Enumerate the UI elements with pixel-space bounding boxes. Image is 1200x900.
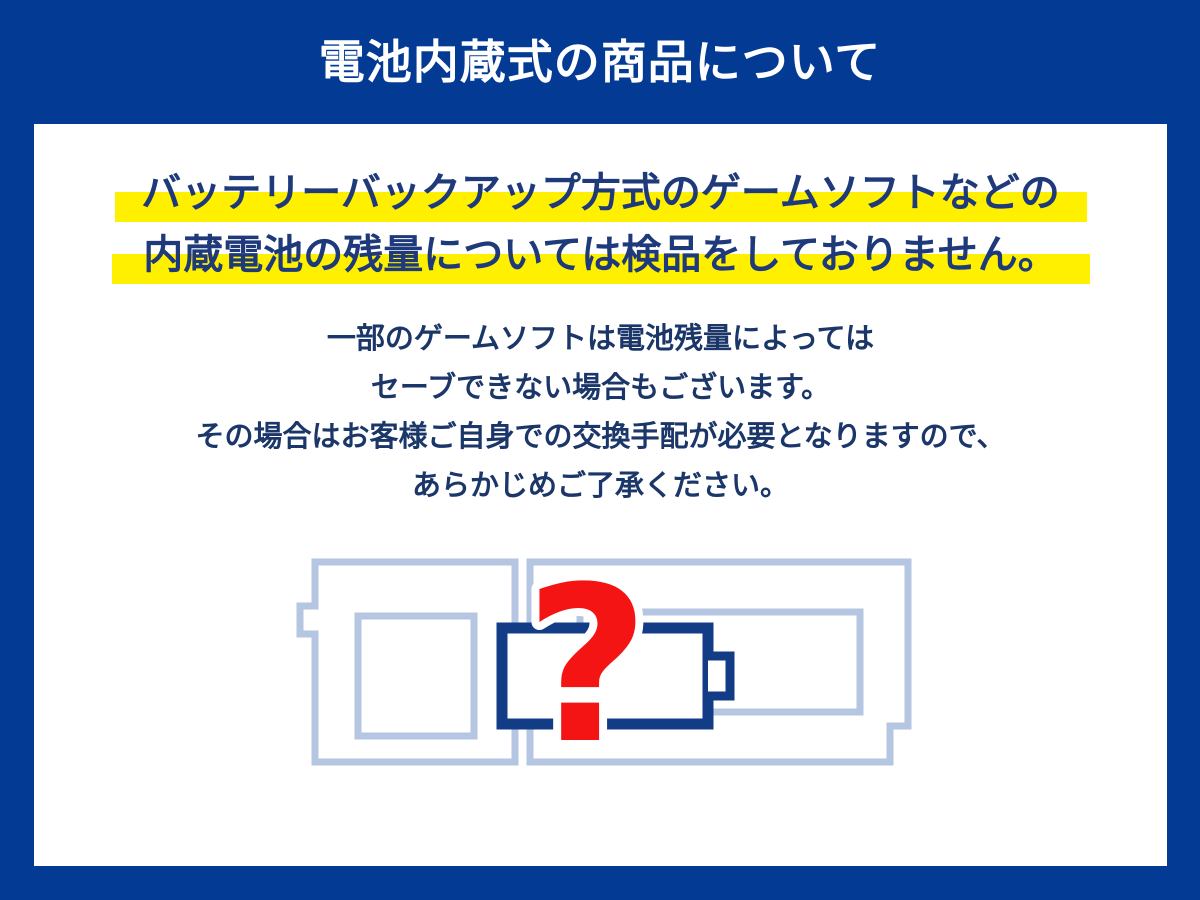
page-title: 電池内蔵式の商品について	[319, 39, 882, 85]
body-line: あらかじめご了承ください。	[34, 461, 1167, 510]
header-bar: 電池内蔵式の商品について	[0, 0, 1200, 124]
battery-terminal	[708, 656, 730, 696]
headline-text: バッテリーバックアップ方式のゲームソフトなどの	[141, 170, 1059, 216]
slide-root: 電池内蔵式の商品について バッテリーバックアップ方式のゲームソフトなどの 内蔵電…	[0, 0, 1200, 900]
illustration-svg: ? ?	[290, 544, 930, 784]
content-card: バッテリーバックアップ方式のゲームソフトなどの 内蔵電池の残量については検品をし…	[34, 124, 1167, 866]
headline-block: バッテリーバックアップ方式のゲームソフトなどの 内蔵電池の残量については検品をし…	[34, 162, 1167, 286]
cartridge-vertical-body	[300, 562, 515, 762]
cartridge-vertical-icon	[300, 562, 515, 762]
question-mark-icon: ? ?	[525, 544, 650, 784]
headline-text: 内蔵電池の残量については検品をしておりません。	[143, 232, 1057, 278]
body-line: セーブできない場合もございます。	[34, 363, 1167, 412]
headline-line: バッテリーバックアップ方式のゲームソフトなどの	[34, 162, 1167, 224]
body-line: その場合はお客様ご自身での交換手配が必要となりますので、	[34, 412, 1167, 461]
battery-cartridge-illustration: ? ?	[290, 544, 930, 784]
body-paragraph: 一部のゲームソフトは電池残量によっては セーブできない場合もございます。 その場…	[34, 314, 1167, 510]
headline-line: 内蔵電池の残量については検品をしておりません。	[34, 224, 1167, 286]
cartridge-vertical-label	[358, 616, 474, 736]
body-line: 一部のゲームソフトは電池残量によっては	[34, 314, 1167, 363]
question-mark-glyph: ?	[525, 544, 650, 784]
